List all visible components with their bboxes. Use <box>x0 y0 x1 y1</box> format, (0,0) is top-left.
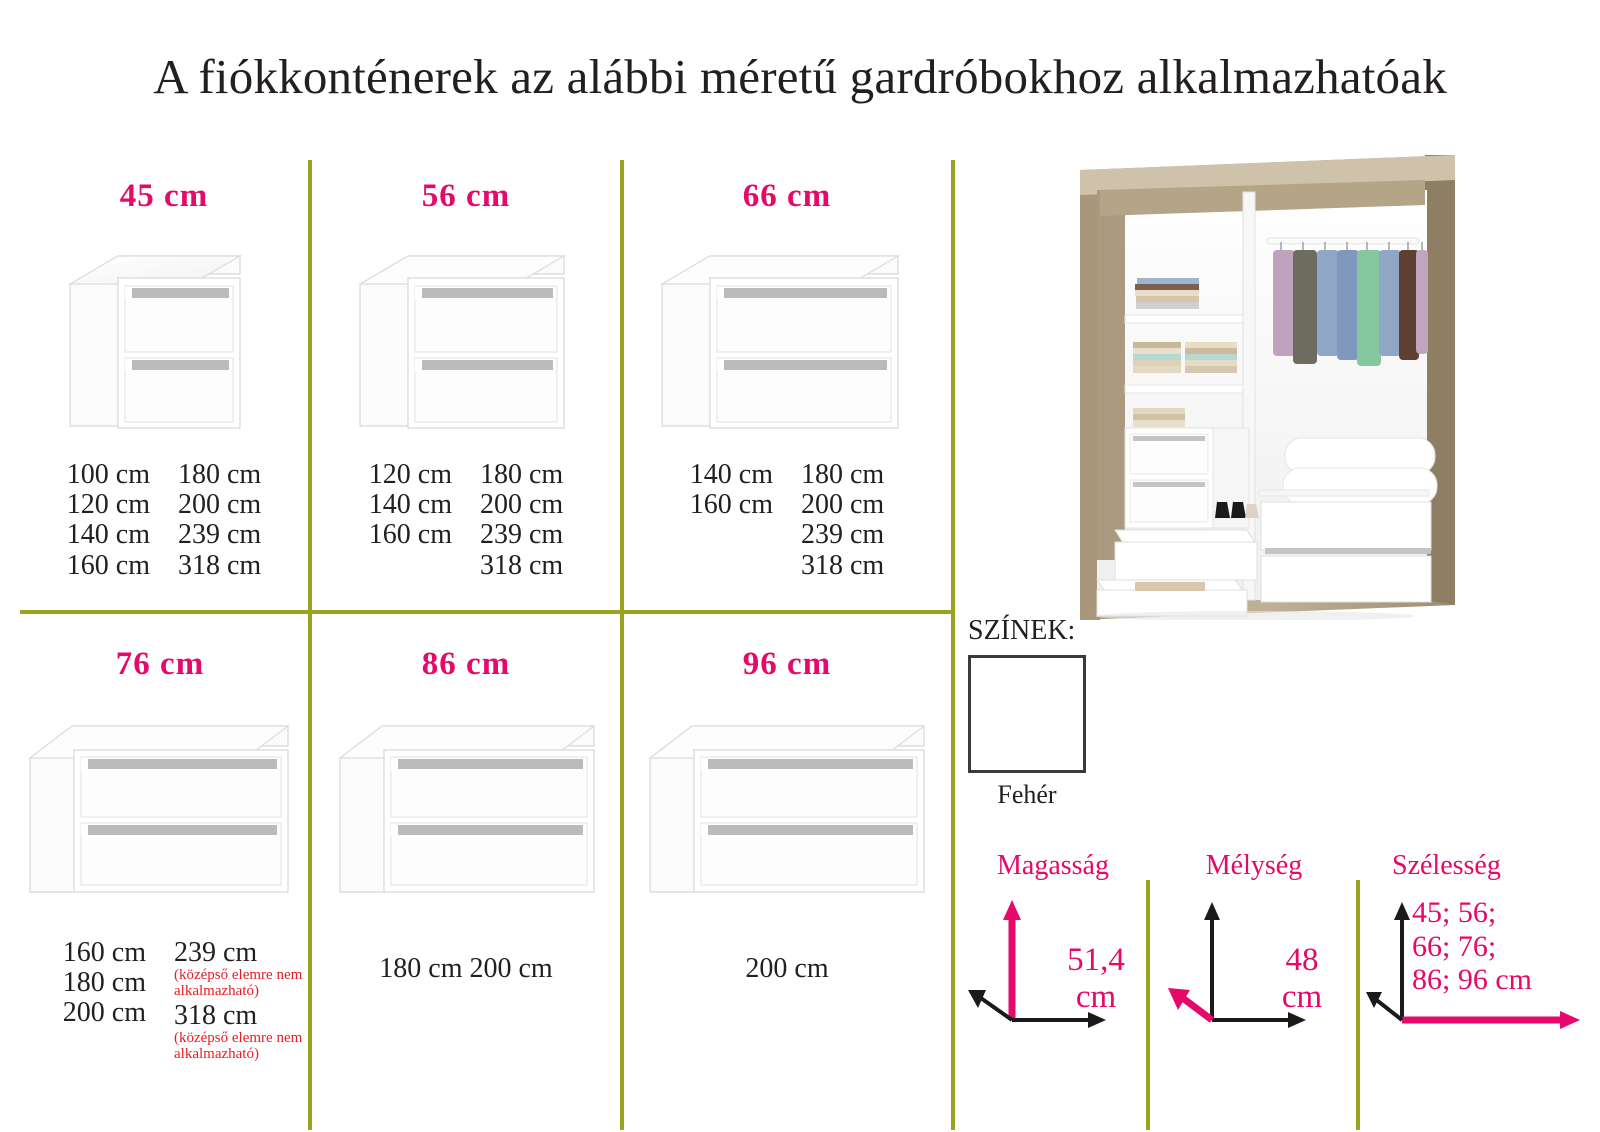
grid-vline-1 <box>308 160 312 612</box>
color-swatch-name: Fehér <box>968 780 1086 810</box>
dimension-number: 51,4 <box>1067 942 1125 978</box>
size-heading-76: 76 cm <box>12 646 308 683</box>
dimension-right-column-66: 180 cm 200 cm 239 cm 318 cm <box>787 460 942 581</box>
dimension-panel-height: Magasság 51,4 cm <box>960 850 1146 1080</box>
size-heading-96: 96 cm <box>632 646 942 683</box>
dimension-panel-divider-1 <box>1146 880 1150 1130</box>
dimension-item: 160 cm <box>320 520 452 550</box>
dimension-value-height: 51,4 cm <box>1046 942 1146 1016</box>
grid-vline-1-lower <box>308 614 312 1130</box>
grid-vline-2-lower <box>620 614 624 1130</box>
dimension-item: 318 cm <box>174 1000 257 1031</box>
dimension-item: 140 cm <box>20 520 150 550</box>
dimension-item: 100 cm <box>20 460 150 490</box>
dimension-title-height: Magasság <box>960 850 1146 882</box>
dimension-value-depth: 48 cm <box>1252 942 1352 1016</box>
color-swatch-white[interactable] <box>968 655 1086 773</box>
dimension-left-column-45: 100 cm 120 cm 140 cm 160 cm <box>20 460 164 581</box>
dimension-list-56: 120 cm 140 cm 160 cm 180 cm 200 cm 239 c… <box>320 460 612 581</box>
grid-vline-3 <box>951 160 955 612</box>
size-heading-45: 45 cm <box>20 178 308 215</box>
dimension-list-86: 180 cm 200 cm <box>320 953 612 985</box>
dimension-list-96: 200 cm <box>632 953 942 985</box>
dimension-note: (középső elemre nem alkalmazható) <box>174 968 308 999</box>
dimension-item: 120 cm <box>20 490 150 520</box>
dimension-right-column-45: 180 cm 200 cm 239 cm 318 cm <box>164 460 308 581</box>
dimension-left-column-66: 140 cm 160 cm <box>632 460 787 581</box>
dimension-list-66: 140 cm 160 cm 180 cm 200 cm 239 cm 318 c… <box>632 460 942 581</box>
dimension-item: 318 cm <box>480 551 612 581</box>
dimension-item: 140 cm <box>632 460 773 490</box>
dimension-item-with-note: 239 cm (középső elemre nem alkalmazható) <box>174 938 308 999</box>
size-cell-56: 56 cm 120 cm 140 cm 160 cm 180 cm <box>320 170 612 600</box>
dimension-item: 318 cm <box>801 551 942 581</box>
dimension-item: 160 cm <box>12 938 146 968</box>
size-cell-96: 96 cm 200 cm <box>632 638 942 1128</box>
dimension-item: 239 cm <box>801 520 942 550</box>
wardrobe-photo <box>985 150 1475 620</box>
dimension-list-76: 160 cm 180 cm 200 cm 239 cm (középső ele… <box>12 938 308 1062</box>
colors-label: SZÍNEK: <box>968 615 1075 647</box>
dimension-right-column-56: 180 cm 200 cm 239 cm 318 cm <box>466 460 612 581</box>
dimension-item: 140 cm <box>320 490 452 520</box>
dimension-item: 120 cm <box>320 460 452 490</box>
grid-vline-2 <box>620 160 624 612</box>
size-heading-86: 86 cm <box>320 646 612 683</box>
grid-hline-middle <box>20 610 955 614</box>
dimension-item: 200 cm <box>801 490 942 520</box>
dimension-title-width: Szélesség <box>1392 850 1592 882</box>
grid-vline-3-lower <box>951 614 955 1130</box>
dimension-item: 200 cm <box>480 490 612 520</box>
drawer-cabinet-2-icon <box>62 248 247 433</box>
dimension-title-depth: Mélység <box>1156 850 1352 882</box>
size-heading-66: 66 cm <box>632 178 942 215</box>
size-cell-66: 66 cm 140 cm 160 cm 180 cm 200 cm <box>632 170 942 600</box>
drawer-cabinet-2-icon <box>642 716 932 901</box>
dimension-left-column-76: 160 cm 180 cm 200 cm <box>12 938 160 1062</box>
size-heading-56: 56 cm <box>320 178 612 215</box>
dimension-item: 160 cm <box>632 490 773 520</box>
dimension-number-line: 45; 56;66; 76;86; 96 cm <box>1412 896 1532 996</box>
infographic-page: A fiókkonténerek az alábbi méretű gardró… <box>0 0 1600 1132</box>
dimension-right-column-76: 239 cm (középső elemre nem alkalmazható)… <box>160 938 308 1062</box>
size-cell-76: 76 cm 160 cm 180 cm 200 cm <box>12 638 308 1128</box>
dimension-left-column-56: 120 cm 140 cm 160 cm <box>320 460 466 581</box>
dimension-note: (középső elemre nem alkalmazható) <box>174 1031 308 1062</box>
dimension-list-45: 100 cm 120 cm 140 cm 160 cm 180 cm 200 c… <box>20 460 308 581</box>
dimension-number: 48 <box>1286 942 1319 978</box>
dimension-item: 180 cm <box>801 460 942 490</box>
dimension-item: 318 cm <box>178 551 308 581</box>
dimension-item: 160 cm <box>20 551 150 581</box>
dimension-panel-width: Szélesség 45; 56;66; 76;86; 96 cm <box>1366 850 1596 1080</box>
drawer-cabinet-2-icon <box>22 716 297 901</box>
dimension-item: 180 cm <box>480 460 612 490</box>
dimension-unit: cm <box>1076 979 1116 1015</box>
dimension-unit: cm <box>1282 979 1322 1015</box>
dimension-panel-depth: Mélység 48 cm <box>1156 850 1352 1080</box>
dimension-item: 200 cm <box>178 490 308 520</box>
page-title: A fiókkonténerek az alábbi méretű gardró… <box>0 48 1600 105</box>
dimension-item: 239 cm <box>480 520 612 550</box>
dimension-item: 239 cm <box>178 520 308 550</box>
size-cell-45: 45 cm 100 cm 1 <box>20 170 308 600</box>
dimension-item: 239 cm <box>174 937 257 968</box>
dimension-value-width: 45; 56;66; 76;86; 96 cm <box>1412 896 1597 997</box>
dimension-item: 180 cm <box>178 460 308 490</box>
drawer-cabinet-2-icon <box>352 248 572 433</box>
dimension-item: 180 cm <box>12 968 146 998</box>
size-cell-86: 86 cm 180 cm 200 cm <box>320 638 612 1128</box>
dimension-panel-divider-2 <box>1356 880 1360 1130</box>
drawer-cabinet-2-icon <box>332 716 602 901</box>
dimension-item-with-note: 318 cm (középső elemre nem alkalmazható) <box>174 1001 308 1062</box>
drawer-cabinet-2-icon <box>654 248 906 433</box>
dimension-item: 200 cm <box>12 998 146 1028</box>
